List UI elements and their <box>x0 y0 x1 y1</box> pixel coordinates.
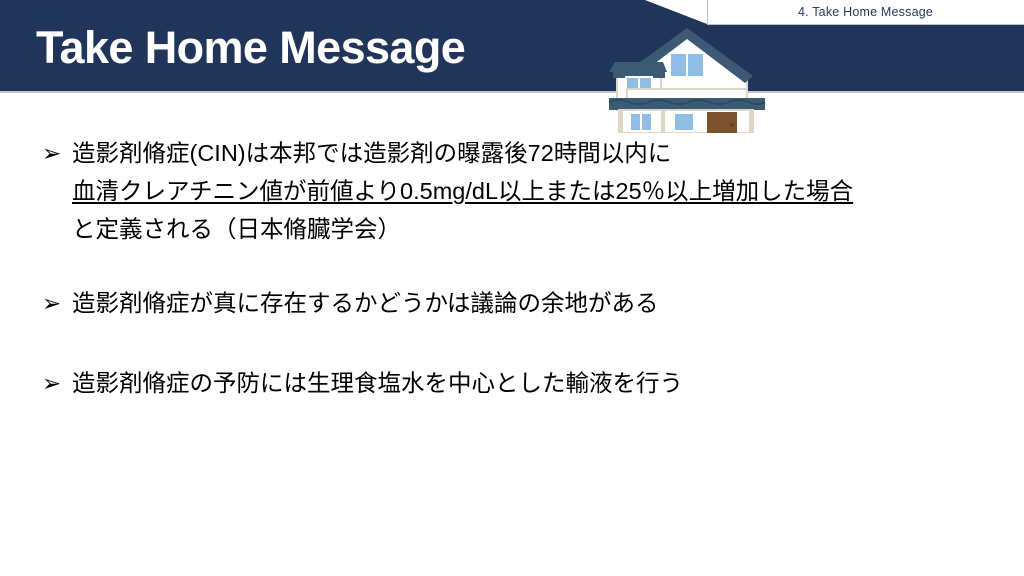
bullet-line-underlined: 血清クレアチニン値が前値より0.5mg/dL以上または25％以上増加した場合 <box>42 172 853 210</box>
section-header-label: 4. Take Home Message <box>798 5 933 19</box>
bullet-continuation: と定義される（日本脩臓学会） <box>42 210 992 248</box>
bullet-item: ➢ 造影剤脩症の予防には生理食塩水を中心とした輸液を行う <box>42 364 992 402</box>
page-title: Take Home Message <box>36 22 465 74</box>
bullet-line: 造影剤脩症(CIN)は本邦では造影剤の曝露後72時間以内に <box>72 134 671 172</box>
bullet-arrow-icon: ➢ <box>42 284 72 322</box>
bullet-continuation: 血清クレアチニン値が前値より0.5mg/dL以上または25％以上増加した場合 <box>42 172 992 210</box>
bullet-line: と定義される（日本脩臓学会） <box>42 210 401 248</box>
house-illustration <box>601 26 773 133</box>
spacer <box>42 322 992 364</box>
bullet-line: 造影剤脩症が真に存在するかどうかは議論の余地がある <box>72 284 659 322</box>
bullet-item: ➢ 造影剤脩症が真に存在するかどうかは議論の余地がある <box>42 284 992 322</box>
banner-underline-rule <box>0 91 1024 93</box>
slide-canvas: 4. Take Home Message Take Home Message <box>0 0 1024 576</box>
bullet-item: ➢ 造影剤脩症(CIN)は本邦では造影剤の曝露後72時間以内に <box>42 134 992 172</box>
bullet-line: 造影剤脩症の予防には生理食塩水を中心とした輸液を行う <box>72 364 683 402</box>
bullet-arrow-icon: ➢ <box>42 134 72 172</box>
section-header-strip: 4. Take Home Message <box>707 0 1024 25</box>
spacer <box>42 248 992 284</box>
bullet-arrow-icon: ➢ <box>42 364 72 402</box>
bullet-content: ➢ 造影剤脩症(CIN)は本邦では造影剤の曝露後72時間以内に 血清クレアチニン… <box>42 134 992 402</box>
header-divider <box>707 0 708 24</box>
